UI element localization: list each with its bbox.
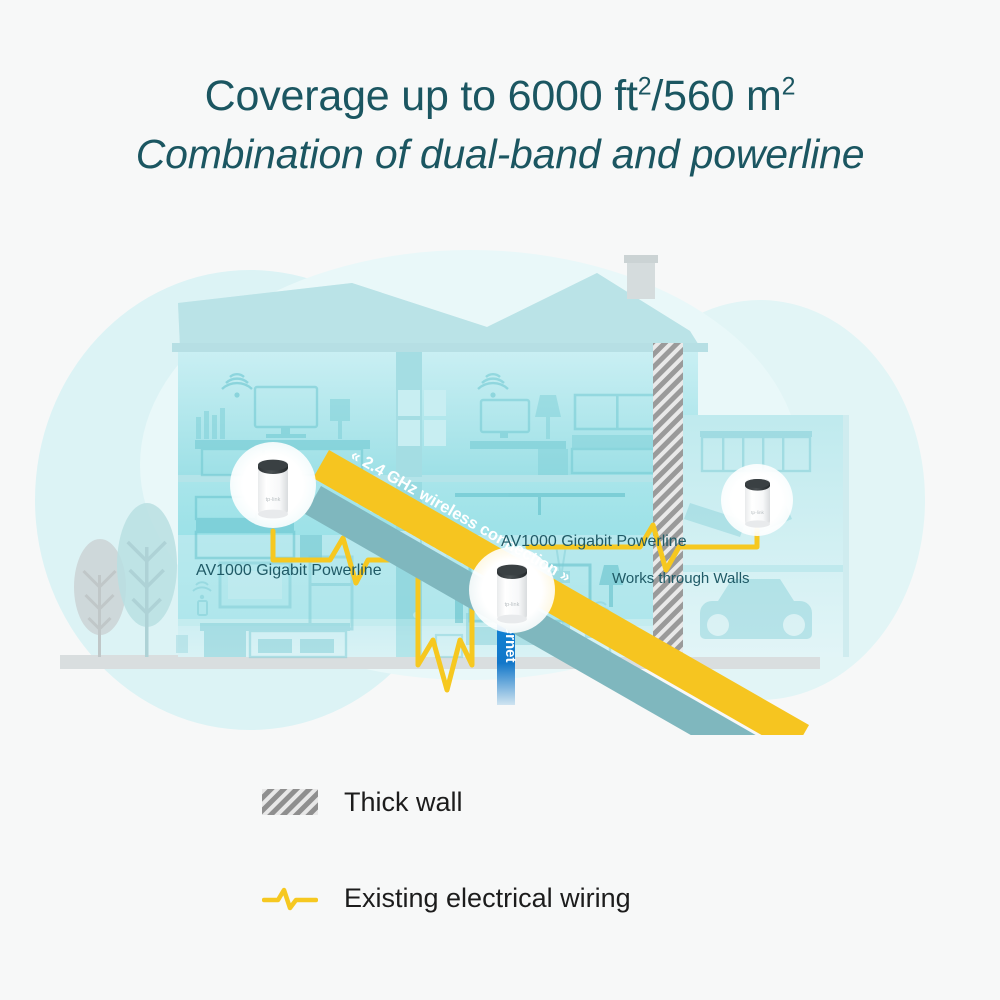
right-wing bbox=[683, 415, 843, 657]
page-title: Coverage up to 6000 ft2/560 m2 bbox=[0, 70, 1000, 122]
legend-label-electrical-wiring: Existing electrical wiring bbox=[344, 883, 631, 913]
powerline-left-label: AV1000 Gigabit Powerline bbox=[196, 562, 382, 579]
title-middle: /560 m bbox=[651, 72, 781, 120]
page-root: Coverage up to 6000 ft2/560 m2 Combinati… bbox=[0, 0, 1000, 1000]
legend: Thick wall Existing electrical wiring bbox=[262, 778, 862, 922]
title-superscript-ft: 2 bbox=[638, 73, 652, 101]
device-brand-label: tp-link bbox=[751, 510, 764, 516]
thick-wall bbox=[653, 343, 683, 657]
legend-label-thick-wall: Thick wall bbox=[344, 787, 463, 817]
wiring-zigzag-swatch bbox=[262, 885, 318, 911]
deco-unit-right-room[interactable]: tp-link bbox=[721, 464, 793, 536]
legend-item-thick-wall: Thick wall bbox=[262, 778, 862, 826]
works-through-walls-label: Works through Walls bbox=[612, 570, 750, 587]
device-brand-label: tp-link bbox=[505, 602, 520, 608]
title-prefix: Coverage up to 6000 ft bbox=[205, 72, 638, 120]
hatched-wall-swatch bbox=[262, 789, 318, 815]
house-diagram: Internet « 5 GHz wireless connection » «… bbox=[0, 235, 1000, 735]
device-brand-label: tp-link bbox=[266, 497, 281, 503]
powerline-right-label: AV1000 Gigabit Powerline bbox=[501, 533, 687, 550]
deco-unit-upstairs-left[interactable]: tp-link bbox=[230, 442, 316, 528]
page-subtitle: Combination of dual-band and powerline bbox=[0, 128, 1000, 180]
deco-unit-center[interactable]: tp-link bbox=[469, 547, 555, 633]
title-superscript-m: 2 bbox=[782, 73, 796, 101]
legend-item-electrical-wiring: Existing electrical wiring bbox=[262, 874, 862, 922]
header: Coverage up to 6000 ft2/560 m2 Combinati… bbox=[0, 70, 1000, 180]
